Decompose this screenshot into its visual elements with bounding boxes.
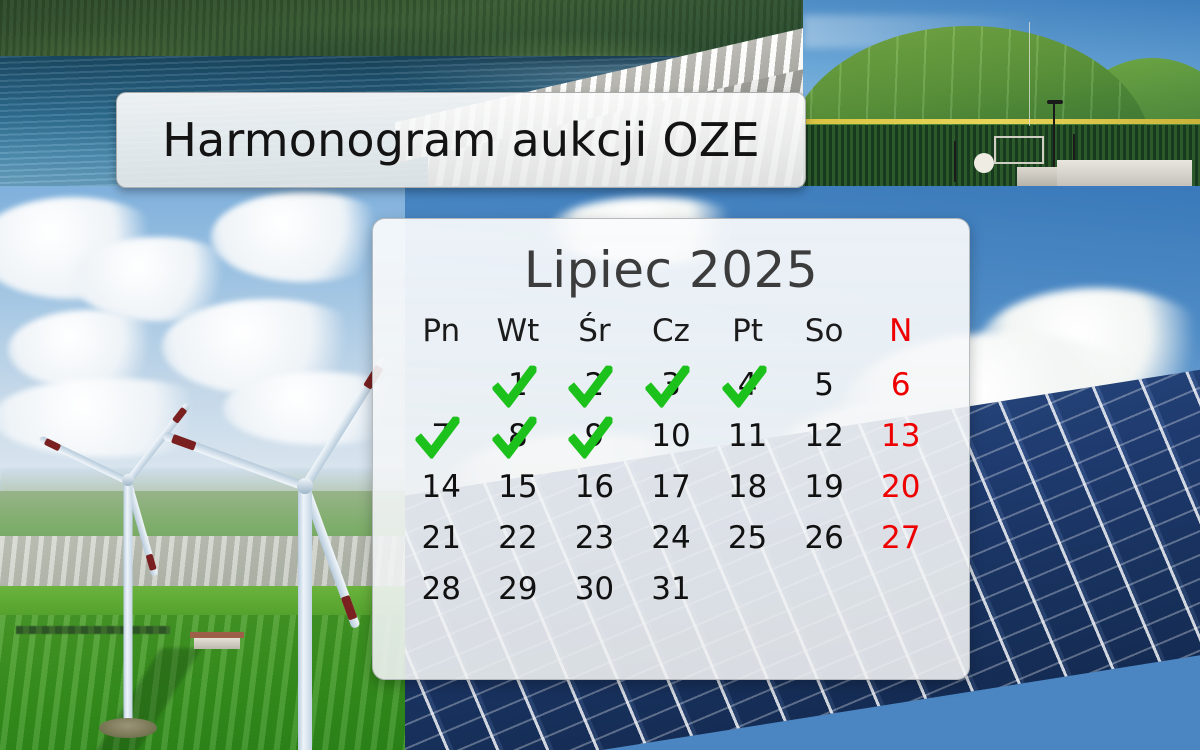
calendar-day-number: 28 — [422, 571, 461, 607]
calendar-day-7[interactable]: 7 — [403, 410, 480, 461]
calendar-day-17[interactable]: 17 — [633, 461, 710, 512]
calendar-day-1[interactable]: 1 — [480, 359, 557, 410]
calendar-day-20[interactable]: 20 — [862, 461, 939, 512]
weekday-header-cz: Cz — [652, 307, 690, 359]
service-container-right — [1057, 160, 1192, 186]
calendar-day-number: 10 — [651, 418, 690, 454]
calendar-day-number: 25 — [728, 520, 767, 556]
calendar-day-29[interactable]: 29 — [480, 563, 557, 614]
calendar-day-number: 18 — [728, 469, 767, 505]
yellow-band — [803, 119, 1200, 124]
calendar-day-number: 2 — [585, 367, 605, 403]
cloud — [211, 192, 397, 282]
calendar-day-number: 31 — [651, 571, 690, 607]
calendar-day-number: 7 — [431, 418, 451, 454]
weekday-header-so: So — [805, 307, 844, 359]
calendar-day-9[interactable]: 9 — [556, 410, 633, 461]
calendar-day-28[interactable]: 28 — [403, 563, 480, 614]
weekday-header-row: PnWtŚrCzPtSoN — [403, 307, 939, 359]
calendar-day-number: 15 — [498, 469, 537, 505]
calendar-day-14[interactable]: 14 — [403, 461, 480, 512]
calendar-day-31[interactable]: 31 — [633, 563, 710, 614]
wind-turbine-left — [48, 418, 208, 750]
calendar-month-title: Lipiec 2025 — [403, 241, 939, 299]
page-title: Harmonogram aukcji OZE — [162, 113, 760, 167]
calendar-day-22[interactable]: 22 — [480, 512, 557, 563]
weekday-header-pt: Pt — [732, 307, 763, 359]
calendar-day-number: 8 — [508, 418, 528, 454]
calendar-day-4[interactable]: 4 — [709, 359, 786, 410]
turbine-blade — [38, 435, 129, 484]
calendar-day-number: 24 — [651, 520, 690, 556]
calendar-day-25[interactable]: 25 — [709, 512, 786, 563]
weekday-header-wt: Wt — [496, 307, 539, 359]
calendar-day-11[interactable]: 11 — [709, 410, 786, 461]
calendar-day-21[interactable]: 21 — [403, 512, 480, 563]
turbine-base — [99, 718, 157, 738]
calendar-day-5[interactable]: 5 — [786, 359, 863, 410]
satellite-dish-icon — [974, 153, 994, 173]
calendar-day-number: 14 — [422, 469, 461, 505]
wind-turbines-photo — [0, 186, 405, 750]
calendar-day-number: 23 — [575, 520, 614, 556]
calendar-day-number: 30 — [575, 571, 614, 607]
calendar-day-number: 29 — [498, 571, 537, 607]
calendar-day-23[interactable]: 23 — [556, 512, 633, 563]
calendar-day-number: 17 — [651, 469, 690, 505]
guy-wire — [1029, 22, 1030, 126]
calendar-day-number: 9 — [585, 418, 605, 454]
pole-tertiary — [954, 141, 956, 182]
calendar-day-number: 27 — [881, 520, 920, 556]
biogas-plant-photo — [803, 0, 1200, 186]
calendar-day-8[interactable]: 8 — [480, 410, 557, 461]
lamp-head — [1047, 100, 1063, 104]
calendar-day-12[interactable]: 12 — [786, 410, 863, 461]
calendar-day-number: 20 — [881, 469, 920, 505]
weekday-header-pn: Pn — [422, 307, 460, 359]
calendar-day-number: 22 — [498, 520, 537, 556]
calendar-days-grid: 1234567891011121314151617181920212223242… — [403, 359, 939, 614]
title-banner: Harmonogram aukcji OZE — [116, 92, 806, 188]
safety-railing — [994, 136, 1044, 164]
calendar-day-6[interactable]: 6 — [862, 359, 939, 410]
calendar-day-18[interactable]: 18 — [709, 461, 786, 512]
calendar-day-30[interactable]: 30 — [556, 563, 633, 614]
calendar-day-24[interactable]: 24 — [633, 512, 710, 563]
calendar-day-3[interactable]: 3 — [633, 359, 710, 410]
calendar-day-15[interactable]: 15 — [480, 461, 557, 512]
calendar-card: Lipiec 2025 PnWtŚrCzPtSoN 12345678910111… — [372, 218, 970, 680]
cloud — [8, 310, 170, 389]
calendar-day-number: 11 — [728, 418, 767, 454]
forested-hills — [0, 0, 803, 63]
turbine-hub — [122, 474, 134, 486]
calendar-day-10[interactable]: 10 — [633, 410, 710, 461]
turbine-mast — [124, 480, 133, 730]
calendar-day-number: 13 — [881, 418, 920, 454]
calendar-day-number: 12 — [804, 418, 843, 454]
calendar-day-27[interactable]: 27 — [862, 512, 939, 563]
calendar-day-number: 21 — [422, 520, 461, 556]
calendar-day-number: 26 — [804, 520, 843, 556]
calendar-day-16[interactable]: 16 — [556, 461, 633, 512]
calendar-day-number: 19 — [804, 469, 843, 505]
calendar-day-number: 16 — [575, 469, 614, 505]
turbine-hub — [297, 478, 313, 494]
calendar-day-13[interactable]: 13 — [862, 410, 939, 461]
calendar-day-19[interactable]: 19 — [786, 461, 863, 512]
calendar-day-number: 6 — [891, 367, 911, 403]
calendar-day-26[interactable]: 26 — [786, 512, 863, 563]
calendar-day-number: 3 — [661, 367, 681, 403]
calendar-day-number: 1 — [508, 367, 528, 403]
turbine-mast — [298, 486, 312, 750]
weekday-header-n: N — [889, 307, 912, 359]
weekday-header-śr: Śr — [578, 307, 610, 359]
calendar-day-2[interactable]: 2 — [556, 359, 633, 410]
calendar-day-number: 4 — [738, 367, 758, 403]
calendar-day-number: 5 — [814, 367, 834, 403]
